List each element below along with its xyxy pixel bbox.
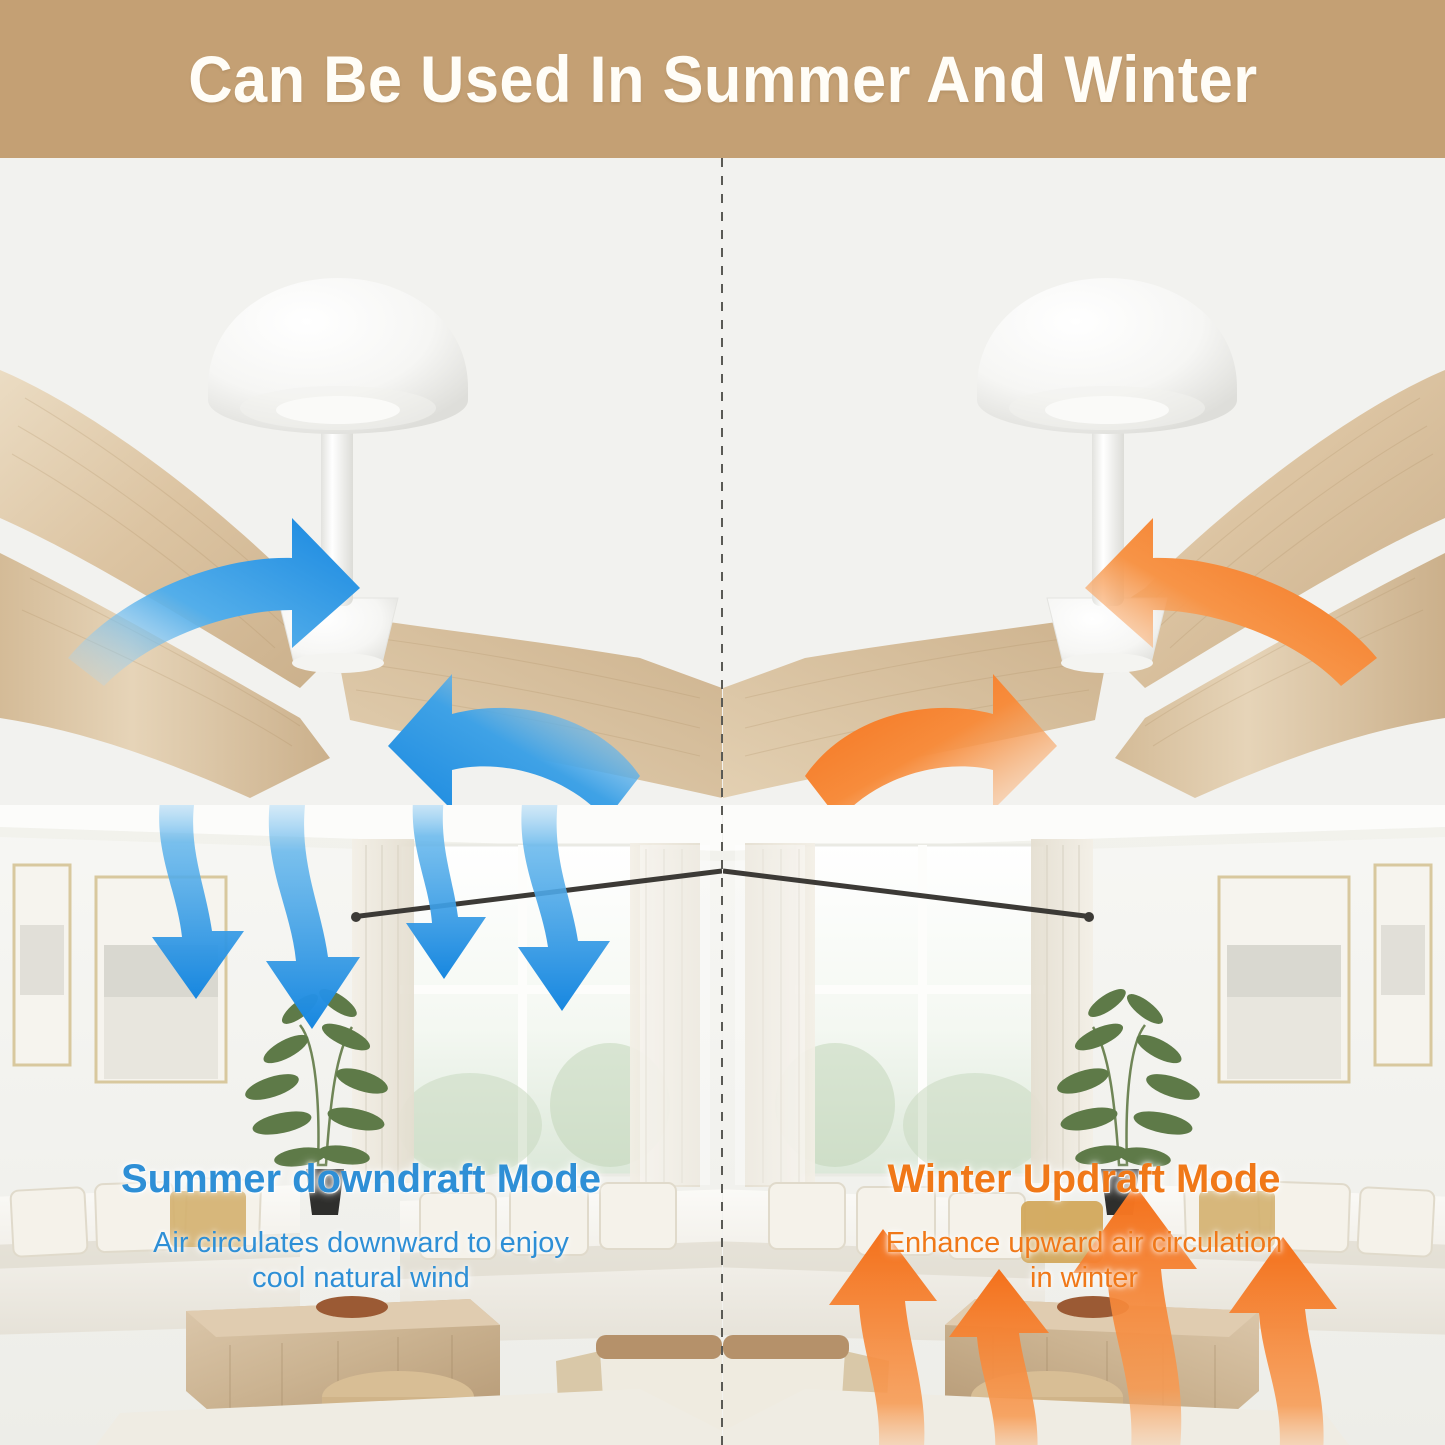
mode-subtitle-line-1: Air circulates downward to enjoy xyxy=(0,1226,722,1261)
mode-subtitle-line-2: in winter xyxy=(723,1261,1445,1296)
header-banner: Can Be Used In Summer And Winter xyxy=(0,0,1445,158)
living-room-photo xyxy=(723,805,1445,1445)
mode-subtitle: Air circulates downward to enjoy cool na… xyxy=(0,1226,722,1297)
mode-title: Summer downdraft Mode xyxy=(0,1158,722,1200)
mode-subtitle-line-1: Enhance upward air circulation xyxy=(723,1226,1445,1261)
ceiling-fan-illustration xyxy=(0,158,722,880)
fan-hero-winter xyxy=(723,158,1445,880)
fan-hero-summer xyxy=(0,158,722,880)
room-scene-summer xyxy=(0,805,722,1445)
page-title: Can Be Used In Summer And Winter xyxy=(188,41,1257,117)
room-scene-winter xyxy=(723,805,1445,1445)
panel-summer: Summer downdraft Mode Air circulates dow… xyxy=(0,158,722,1445)
mode-subtitle-line-2: cool natural wind xyxy=(0,1261,722,1296)
mode-subtitle: Enhance upward air circulation in winter xyxy=(723,1226,1445,1297)
wall-art-frames xyxy=(1219,865,1431,1082)
panel-winter: Winter Updraft Mode Enhance upward air c… xyxy=(723,158,1445,1445)
mode-title: Winter Updraft Mode xyxy=(723,1158,1445,1200)
panel-divider xyxy=(721,158,723,1445)
living-room-photo xyxy=(0,805,722,1445)
mode-label-summer: Summer downdraft Mode Air circulates dow… xyxy=(0,1158,722,1297)
comparison-stage: Summer downdraft Mode Air circulates dow… xyxy=(0,158,1445,1445)
mode-label-winter: Winter Updraft Mode Enhance upward air c… xyxy=(723,1158,1445,1297)
ceiling-fan-illustration xyxy=(723,158,1445,880)
